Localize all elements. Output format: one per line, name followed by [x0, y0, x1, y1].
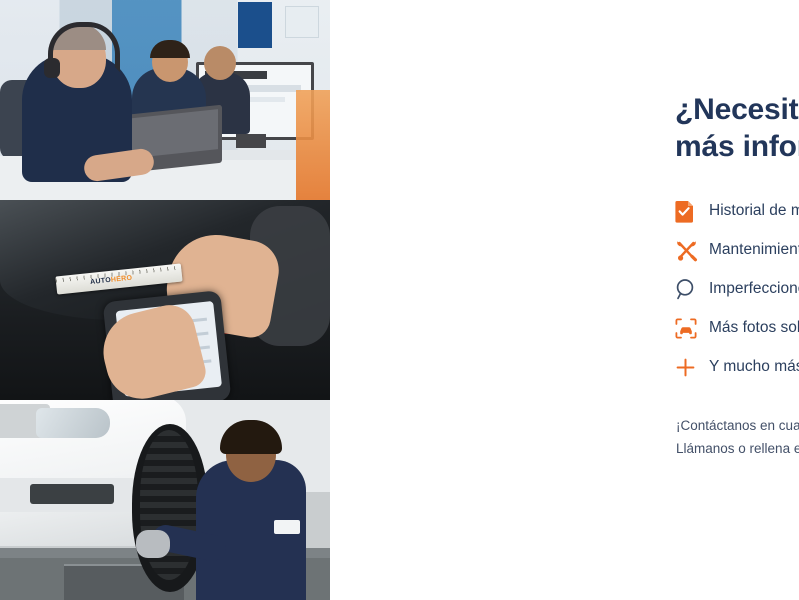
photo-call-center: Asesores con auriculares atendiendo llam… [0, 0, 330, 200]
document-check-icon [675, 197, 709, 225]
agent-headset-earcup [44, 58, 60, 78]
car-air-vent [30, 484, 114, 504]
feature-item-maintenance-done: Mantenimiento realizado [675, 231, 799, 269]
contact-text: ¡Contáctanos en cualquier momento para m… [676, 414, 799, 460]
feature-item-imperfections: Imperfecciones [675, 270, 799, 308]
technician-glove [136, 530, 170, 558]
plus-icon [675, 353, 709, 381]
feature-label: Y mucho más [709, 359, 799, 375]
information-banner: Asesores con auriculares atendiendo llam… [0, 0, 799, 600]
agent-background-2-head [204, 46, 236, 80]
feature-item-more-photos: Más fotos sobre el coche [675, 309, 799, 347]
feature-item-service-history: Historial de mantenimientos [675, 192, 799, 230]
photo-damage-inspection: AUTOHERO Técnico midiendo un daño en la … [0, 200, 330, 400]
contact-text-line-2: Llámanos o rellena el formulario de cont… [676, 437, 799, 460]
orange-equipment [296, 90, 330, 200]
wall-poster [238, 2, 272, 48]
car-photo-focus-icon [675, 314, 709, 342]
content-panel: ¿Necesitas más información? Estamos enca… [330, 0, 799, 600]
feature-label: Historial de mantenimientos [709, 203, 799, 219]
photo-collage: Asesores con auriculares atendiendo llam… [0, 0, 330, 600]
feature-label: Imperfecciones [709, 281, 799, 297]
wall-poster-secondary [285, 6, 319, 38]
car-headlight [36, 408, 110, 438]
photo-tyre-check: Técnico revisando el neumático de un coc… [0, 400, 330, 600]
monitor-stand [236, 134, 266, 148]
crossed-tools-icon [675, 236, 709, 264]
feature-list: Historial de mantenimientos M [675, 192, 799, 387]
feature-label: Más fotos sobre el coche [709, 320, 799, 336]
contact-text-line-1: ¡Contáctanos en cualquier momento para m… [676, 414, 799, 437]
technician-logo-patch [274, 520, 300, 534]
page-title-line-1: ¿Necesitas [675, 92, 799, 129]
feature-label: Mantenimiento realizado [709, 242, 799, 258]
page-title-line-2: más información? [675, 129, 799, 166]
page-title: ¿Necesitas más información? [675, 92, 799, 165]
magnifier-icon [675, 275, 709, 303]
feature-item-much-more: Y mucho más [675, 348, 799, 386]
